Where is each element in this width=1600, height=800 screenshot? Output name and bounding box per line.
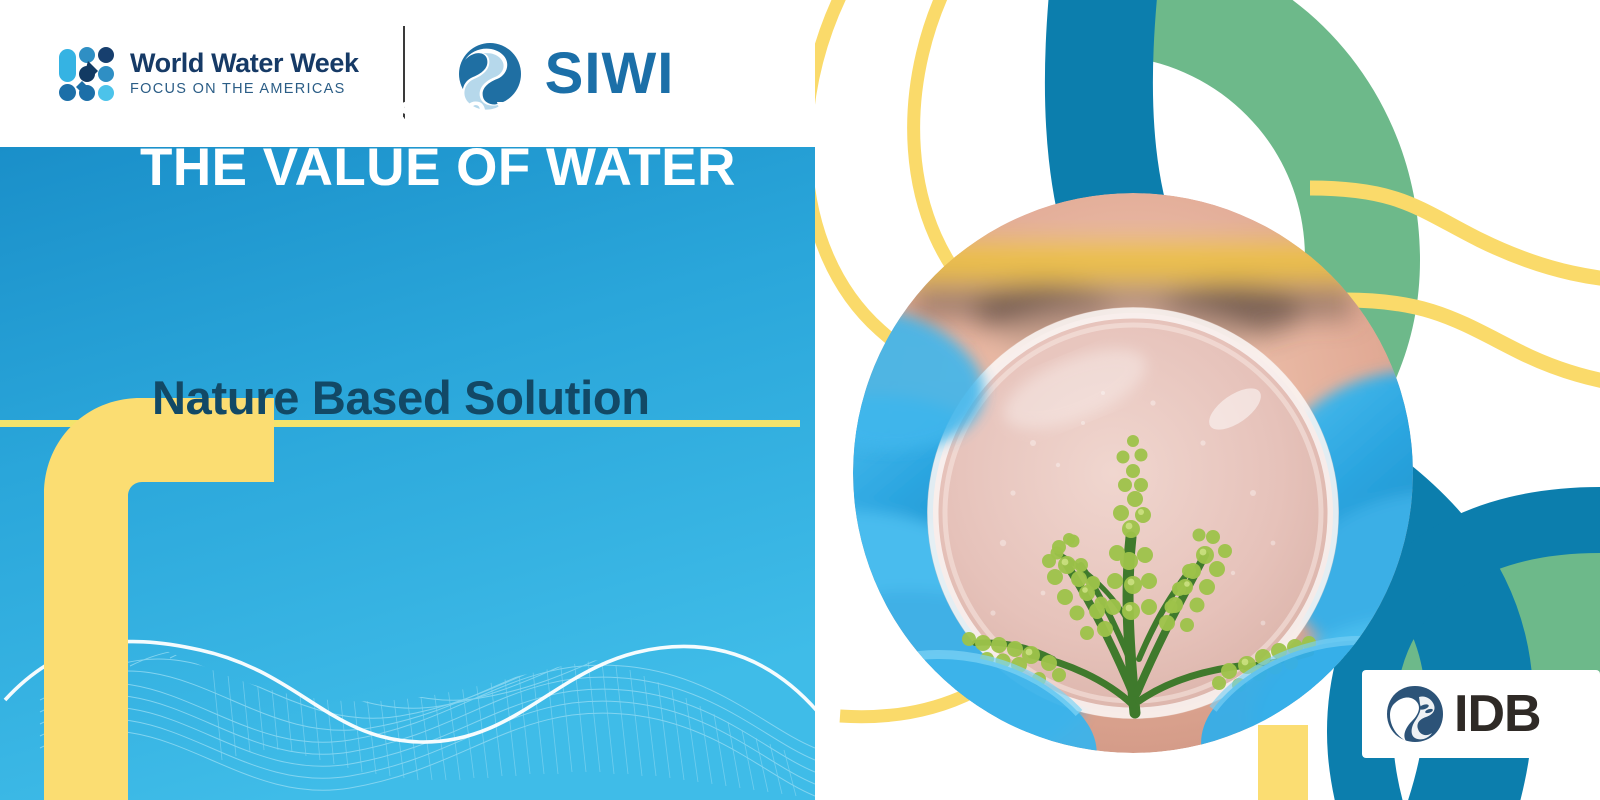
idb-logo[interactable]: IDB: [1362, 670, 1600, 758]
banner-graphic: World Water Week FOCUS ON THE AMERICAS S…: [0, 0, 1600, 800]
world-water-week-mark: [58, 43, 118, 105]
world-water-week-title: World Water Week: [130, 50, 359, 78]
headline-line-1: Making the ivisible visble:: [140, 88, 736, 132]
circular-photo-seaweed-petri-dish: [853, 193, 1413, 753]
hero-subheadline: Nature Based Solution: [152, 370, 650, 425]
hero-headline: Making the ivisible visble: THE VALUE OF…: [140, 88, 736, 199]
yellow-accent-strip: [1258, 725, 1308, 800]
idb-wordmark: IDB: [1454, 688, 1541, 740]
idb-globe-mark: [1384, 683, 1446, 745]
headline-line-2: THE VALUE OF WATER: [140, 138, 736, 199]
